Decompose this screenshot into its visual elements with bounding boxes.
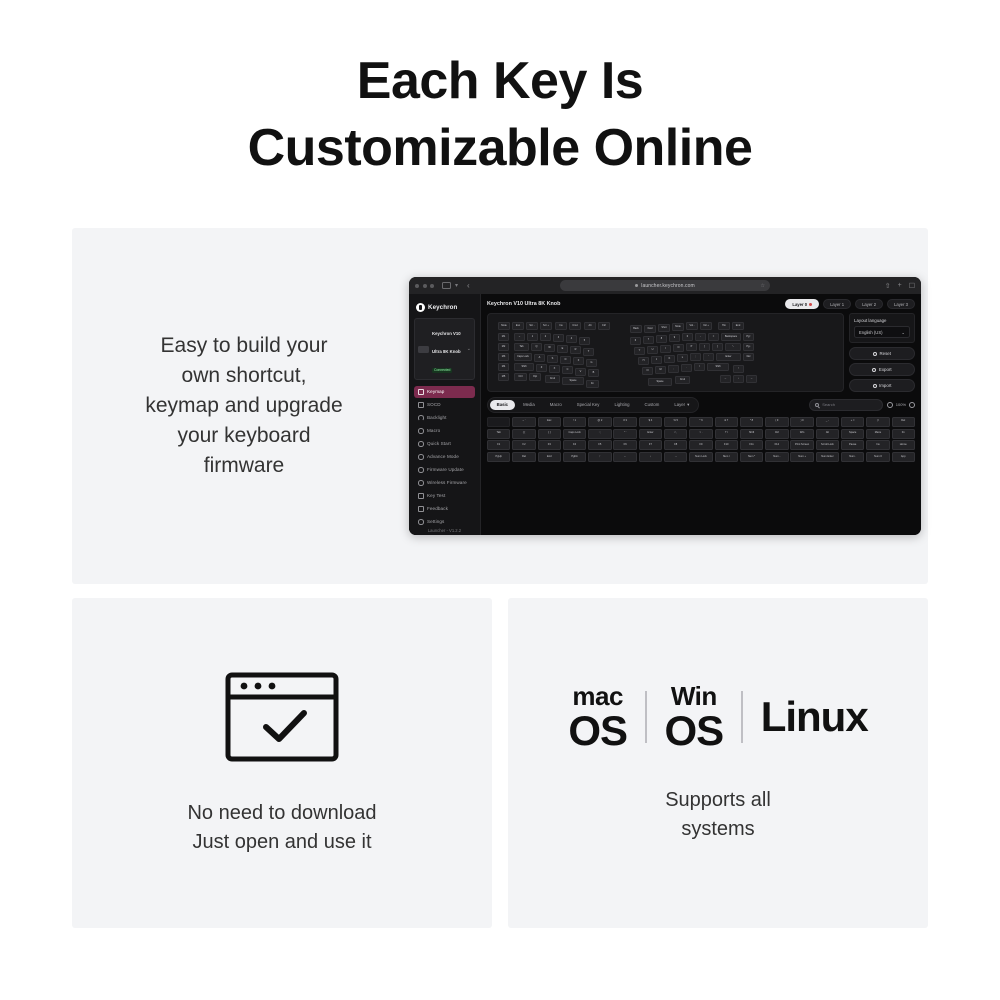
layer-tab-0[interactable]: Layer 0 xyxy=(785,299,819,309)
keyboard-key[interactable]: Y xyxy=(634,347,645,355)
palette-key[interactable]: | \ xyxy=(866,417,889,427)
tab-label: Lighting xyxy=(614,402,629,407)
keyboard-key[interactable]: Fn xyxy=(586,380,599,388)
layer-tab-label: Layer 0 xyxy=(792,302,807,307)
os-logo-row: mac OS Win OS Linux xyxy=(550,683,885,752)
keyboard-key[interactable]: [ xyxy=(699,343,710,351)
sidebar-item-label: Advance Mode xyxy=(427,454,459,459)
layer-tab-label: Layer 3 xyxy=(894,302,908,307)
keyboard-key[interactable]: Vol + xyxy=(700,322,712,330)
sidebar-item-label: Settings xyxy=(427,519,444,524)
keyboard-key[interactable]: V xyxy=(575,368,586,376)
os-logo-winos-top: Win xyxy=(671,683,717,709)
sidebar-item-quick-start[interactable]: Quick Start xyxy=(414,438,475,450)
tab-layer[interactable]: Layer ▾ xyxy=(667,400,696,410)
key-test-icon xyxy=(418,493,424,499)
keyboard-key[interactable]: Alt xyxy=(584,322,596,330)
url-bar[interactable]: launcher.keychron.com ☆ xyxy=(560,280,770,291)
keyboard-key[interactable]: D xyxy=(560,356,571,364)
palette-key[interactable]: ~ ` xyxy=(512,417,535,427)
keyboard-key[interactable]: L xyxy=(677,354,688,362)
keychron-logo-icon xyxy=(416,303,425,312)
layer-tab-label: Layer 1 xyxy=(830,302,844,307)
keyboard-key[interactable]: G xyxy=(586,359,597,367)
keyboard-key[interactable]: F xyxy=(573,357,584,365)
palette-key[interactable]: F3 xyxy=(538,440,561,450)
panel-actions: Reset Export Import xyxy=(849,347,915,392)
keyboard-key[interactable]: Opt xyxy=(529,373,541,381)
palette-key[interactable]: F1 xyxy=(487,440,510,450)
palette-key[interactable]: F5 xyxy=(588,440,611,450)
chevron-down-icon: ▾ xyxy=(687,402,689,408)
palette-key[interactable]: _ - xyxy=(816,417,839,427)
keyboard-key[interactable]: M2 xyxy=(498,343,509,351)
sidebar-item-label: Quick Start xyxy=(427,441,451,446)
keyboard-key[interactable]: B xyxy=(588,369,599,377)
right-panel: Layout language English (US) ⌄ xyxy=(849,313,915,392)
keyboard-key[interactable]: \ xyxy=(725,343,741,351)
chevron-down-icon: ⌄ xyxy=(901,330,905,335)
firmware-update-icon xyxy=(418,467,424,473)
reset-icon xyxy=(873,352,877,356)
keyboard-key[interactable]: Ctrl xyxy=(514,373,527,381)
main-header: Keychron V10 Ultra 8K Knob Layer 0 Layer… xyxy=(487,299,915,309)
keyboard-key[interactable]: K xyxy=(664,355,675,363)
palette-key[interactable]: Fn xyxy=(892,429,915,439)
palette-key[interactable]: ? / xyxy=(715,429,738,439)
app-screenshot-wrapper: ▾ ‹ launcher.keychron.com ☆ ⇧ + ☐ xyxy=(402,277,928,535)
keyboard-key[interactable]: . xyxy=(681,364,692,372)
keyboard-key[interactable]: 7 xyxy=(643,336,654,344)
wireless-firmware-icon xyxy=(418,480,424,486)
palette-key[interactable]: F7 xyxy=(639,440,662,450)
palette-key[interactable]: F10 xyxy=(715,440,738,450)
launcher-description: Easy to build your own shortcut, keymap … xyxy=(72,331,402,480)
keymap-icon xyxy=(418,389,424,395)
brand-name: Keychron xyxy=(428,304,457,311)
browser-window: ▾ ‹ launcher.keychron.com ☆ ⇧ + ☐ xyxy=(409,277,921,535)
sidebar-item-label: Backlight xyxy=(427,415,447,420)
app-main: Keychron V10 Ultra 8K Knob Layer 0 Layer… xyxy=(481,294,921,535)
palette-key[interactable]: Num Lock xyxy=(689,452,712,462)
palette-key[interactable]: > . xyxy=(689,429,712,439)
palette-key[interactable]: F2 xyxy=(512,440,535,450)
palette-key[interactable]: ↓ xyxy=(639,452,662,462)
settings-icon xyxy=(418,519,424,525)
keyboard-key[interactable]: Pg↑ xyxy=(743,333,754,341)
keyboard-key[interactable]: Shift xyxy=(514,363,534,371)
palette-key[interactable]: Esc xyxy=(538,417,561,427)
quick-start-icon xyxy=(418,441,424,447)
keyboard-key[interactable]: M xyxy=(655,366,666,374)
keyboard-key[interactable]: 8 xyxy=(656,335,667,343)
keyboard-key[interactable]: Backspace xyxy=(721,333,741,341)
layer-tabs: Layer 0 Layer 1 Layer 2 L xyxy=(785,299,915,309)
zoom-level: 100% xyxy=(896,402,906,407)
keyboard-key[interactable]: Enter xyxy=(716,353,741,361)
keyboard-key[interactable]: M1 xyxy=(498,333,509,341)
palette-key[interactable]: App xyxy=(892,452,915,462)
keyboard-key[interactable]: M5 xyxy=(498,373,509,381)
keyboard-key[interactable]: ; xyxy=(690,353,701,361)
palette-key[interactable]: F9 xyxy=(689,440,712,450)
palette-key[interactable]: # 3 xyxy=(613,417,636,427)
sidebar-item-firmware-update[interactable]: Firmware Update xyxy=(414,464,475,476)
layer-tab-1[interactable]: Layer 1 xyxy=(823,299,851,309)
palette-key[interactable]: Space xyxy=(841,429,864,439)
keyboard-key[interactable]: Cmd xyxy=(675,376,690,384)
import-button[interactable]: Import xyxy=(849,379,915,392)
no-download-caption-line-1: No need to download xyxy=(187,799,376,828)
search-input[interactable]: Search xyxy=(809,399,883,410)
os-logo-macos-top: mac xyxy=(572,683,623,709)
launcher-app: Keychron Keychron V10 Ultra 8K Knob Conn… xyxy=(409,294,921,535)
sidebar-item-macro[interactable]: Macro xyxy=(414,425,475,437)
keyboard-key[interactable]: Caps Lock xyxy=(514,353,532,361)
palette-key[interactable]: Ctrl xyxy=(765,429,788,439)
palette-key[interactable]: } ] xyxy=(538,429,561,439)
palette-key[interactable]: Scroll Lock xyxy=(816,440,839,450)
export-button[interactable]: Export xyxy=(849,363,915,376)
palette-key[interactable]: Tab xyxy=(487,429,510,439)
launcher-description-line-3: keymap and upgrade xyxy=(86,391,402,421)
keyboard-key[interactable]: 4 xyxy=(566,335,577,343)
keyboard-key[interactable]: Vol - xyxy=(686,322,698,330)
keyboard-key[interactable]: N xyxy=(642,367,653,375)
palette-key[interactable]: < , xyxy=(664,429,687,439)
palette-key[interactable]: Num - xyxy=(765,452,788,462)
search-icon xyxy=(815,403,820,408)
keyboard-key[interactable]: Del xyxy=(743,353,754,361)
palette-key[interactable]: Del xyxy=(892,417,915,427)
keyboard-key[interactable]: C xyxy=(562,366,573,374)
keyboard-key[interactable]: P xyxy=(686,343,697,351)
palette-key[interactable]: PgUp xyxy=(487,452,510,462)
tab-label: Macro xyxy=(550,402,562,407)
browser-chrome-bar: ▾ ‹ launcher.keychron.com ☆ ⇧ + ☐ xyxy=(409,277,921,294)
keyboard-key[interactable]: Q xyxy=(531,343,542,351)
export-label: Export xyxy=(879,367,892,372)
tabs-icon[interactable]: ☐ xyxy=(909,282,915,290)
palette-key[interactable] xyxy=(487,417,510,427)
palette-row: F1F2F3F4F5F6F7F8F9F10F11F12Print ScreenS… xyxy=(487,440,915,450)
keyboard-key[interactable]: ↑ xyxy=(733,365,744,373)
device-name-line-2: Ultra 8K Knob xyxy=(432,349,461,354)
key-category-tabs: Basic Media Macro Special Key Lighting C… xyxy=(487,397,699,413)
keyboard-key[interactable]: 6 xyxy=(630,337,641,345)
page-title-line-2: Customizable Online xyxy=(0,115,1000,182)
page-root: Each Key Is Customizable Online Easy to … xyxy=(0,0,1000,1000)
keyboard-key[interactable]: Space xyxy=(562,377,584,385)
palette-key[interactable]: Menu xyxy=(866,429,889,439)
palette-key[interactable]: F4 xyxy=(563,440,586,450)
palette-key[interactable]: @ 2 xyxy=(588,417,611,427)
tab-lighting[interactable]: Lighting xyxy=(607,400,636,409)
keyboard-key[interactable]: O xyxy=(673,344,684,352)
reset-label: Reset xyxy=(880,351,891,356)
palette-key[interactable]: Win xyxy=(790,429,813,439)
palette-key[interactable]: Caps Lock xyxy=(563,429,586,439)
palette-key[interactable]: : ; xyxy=(588,429,611,439)
key-category-toolbar: Basic Media Macro Special Key Lighting C… xyxy=(487,397,915,413)
keyboard-key[interactable]: 2 xyxy=(540,333,551,341)
zoom-in-icon[interactable] xyxy=(909,402,915,408)
palette-key[interactable]: & 7 xyxy=(715,417,738,427)
palette-key[interactable]: ← xyxy=(613,452,636,462)
brand: Keychron xyxy=(414,301,475,318)
sidebar-toggle-icon[interactable] xyxy=(442,282,451,289)
keyboard-visualization[interactable]: MuteEscScr -Scr +InsCmdAltCtrlM1~12345M2… xyxy=(487,313,844,392)
palette-key[interactable]: Print Screen xyxy=(790,440,813,450)
advance-mode-icon xyxy=(418,454,424,460)
layer-tab-label: Layer 2 xyxy=(862,302,876,307)
keyboard-key[interactable]: ' xyxy=(703,353,714,361)
palette-key[interactable]: Num 0 xyxy=(866,452,889,462)
palette-key[interactable]: Del xyxy=(512,452,535,462)
palette-key[interactable]: " ' xyxy=(613,429,636,439)
keyboard-key[interactable]: H xyxy=(638,357,649,365)
keyboard-key[interactable]: Hm xyxy=(718,322,730,330)
keyboard-key[interactable]: → xyxy=(746,375,757,383)
keyboard-key[interactable]: = xyxy=(708,333,719,341)
export-icon xyxy=(872,368,876,372)
sidebar-item-label: SOCD xyxy=(427,402,441,407)
keyboard-key[interactable]: Scr + xyxy=(540,322,552,330)
layout-language-label: Layout language xyxy=(854,318,910,323)
palette-key[interactable]: F11 xyxy=(740,440,763,450)
no-download-caption: No need to download Just open and use it xyxy=(187,799,376,857)
bookmark-icon[interactable]: ☆ xyxy=(761,283,765,289)
launcher-description-line-1: Easy to build your xyxy=(86,331,402,361)
feature-card-launcher: Easy to build your own shortcut, keymap … xyxy=(72,228,928,584)
palette-key[interactable]: + = xyxy=(841,417,864,427)
app-sidebar: Keychron Keychron V10 Ultra 8K Knob Conn… xyxy=(409,294,481,535)
keyboard-key[interactable]: Pg↓ xyxy=(743,343,754,351)
palette-key[interactable]: Num . xyxy=(841,452,864,462)
tab-label: Custom xyxy=(645,402,660,407)
sidebar-item-settings[interactable]: Settings xyxy=(414,516,475,528)
keyboard-key[interactable]: J xyxy=(651,356,662,364)
url-text: launcher.keychron.com xyxy=(641,283,695,289)
keyboard-key[interactable]: M4 xyxy=(498,363,509,371)
keyboard-key[interactable]: / xyxy=(694,363,705,371)
palette-key[interactable]: ! 1 xyxy=(563,417,586,427)
tab-basic[interactable]: Basic xyxy=(490,400,515,409)
share-icon[interactable]: ⇧ xyxy=(885,282,891,290)
palette-key[interactable]: PgDn xyxy=(563,452,586,462)
keyboard-key[interactable]: 1 xyxy=(527,333,538,341)
palette-key[interactable]: F12 xyxy=(765,440,788,450)
os-logo-macos: mac OS xyxy=(550,683,645,752)
keyboard-key[interactable]: , xyxy=(668,365,679,373)
tab-special-key[interactable]: Special Key xyxy=(570,400,607,409)
palette-key[interactable]: Home xyxy=(892,440,915,450)
zoom-out-icon[interactable] xyxy=(887,402,893,408)
palette-row: ~ `Esc! 1@ 2# 3$ 4% 5^ 6& 7* 8( 9) 0_ -+… xyxy=(487,417,915,427)
keyboard-key[interactable]: Cmd xyxy=(545,375,560,383)
palette-key[interactable]: Pause xyxy=(841,440,864,450)
feature-card-no-download: No need to download Just open and use it xyxy=(72,598,492,928)
keyboard-key[interactable]: A xyxy=(534,354,545,362)
layout-language-value: English (US) xyxy=(859,330,883,335)
lock-icon xyxy=(635,284,638,287)
layer-tab-2[interactable]: Layer 2 xyxy=(855,299,883,309)
sidebar-item-advance-mode[interactable]: Advance Mode xyxy=(414,451,475,463)
page-title-line-1: Each Key Is xyxy=(0,48,1000,115)
keyboard-key[interactable]: I xyxy=(660,345,671,353)
palette-key[interactable]: Shift xyxy=(740,429,763,439)
palette-key[interactable]: Num Enter xyxy=(816,452,839,462)
editor-stage: MuteEscScr -Scr +InsCmdAltCtrlM1~12345M2… xyxy=(487,313,915,392)
feedback-icon xyxy=(418,506,424,512)
sidebar-item-backlight[interactable]: Backlight xyxy=(414,412,475,424)
palette-row: Tab{ [} ]Caps Lock: ;" 'Enter< ,> .? /Sh… xyxy=(487,429,915,439)
palette-key[interactable]: % 5 xyxy=(664,417,687,427)
new-tab-icon[interactable]: + xyxy=(898,282,902,289)
sidebar-item-label: Keymap xyxy=(427,389,444,394)
no-download-caption-line-2: Just open and use it xyxy=(187,828,376,857)
palette-key[interactable]: Enter xyxy=(639,429,662,439)
palette-key[interactable]: Alt xyxy=(816,429,839,439)
sidebar-item-wireless-firmware[interactable]: Wireless Firmware xyxy=(414,477,475,489)
palette-key[interactable]: Ins xyxy=(866,440,889,450)
keyboard-key[interactable]: Scr - xyxy=(526,322,538,330)
keyboard-key[interactable]: Cmd xyxy=(569,322,581,330)
keyboard-key[interactable]: ← xyxy=(720,375,731,383)
launcher-description-line-5: firmware xyxy=(86,451,402,481)
device-info: Keychron V10 Ultra 8K Knob Connected xyxy=(432,322,464,376)
palette-key[interactable]: End xyxy=(538,452,561,462)
tab-macro[interactable]: Macro xyxy=(543,400,569,409)
device-selector[interactable]: Keychron V10 Ultra 8K Knob Connected ⌄ xyxy=(414,318,475,380)
keyboard-key[interactable]: ~ xyxy=(514,333,525,341)
tab-label: Media xyxy=(523,402,535,407)
device-name-line-1: Keychron V10 xyxy=(432,331,461,336)
keyboard-key[interactable]: Esc xyxy=(512,322,524,330)
keyboard-key[interactable]: Back xyxy=(630,325,642,333)
os-logo-macos-bottom: OS xyxy=(568,710,627,752)
tab-label: Special Key xyxy=(577,402,600,407)
browser-chrome-actions[interactable]: ⇧ + ☐ xyxy=(885,282,915,290)
tab-custom[interactable]: Custom xyxy=(638,400,667,409)
reset-button[interactable]: Reset xyxy=(849,347,915,360)
keyboard-key[interactable]: Space xyxy=(648,378,672,386)
sidebar-item-socd[interactable]: SOCD xyxy=(414,399,475,411)
chevron-down-icon[interactable]: ▾ xyxy=(455,283,458,289)
keyboard-key[interactable]: ] xyxy=(712,343,723,351)
feature-card-os-support: mac OS Win OS Linux Supports all systems xyxy=(508,598,928,928)
layer-active-dot-icon xyxy=(809,303,812,306)
os-support-caption-line-1: Supports all xyxy=(665,786,771,815)
import-label: Import xyxy=(879,383,891,388)
layout-language-select[interactable]: English (US) ⌄ xyxy=(854,326,910,338)
keyboard-key[interactable]: T xyxy=(583,348,594,356)
device-thumbnail-icon xyxy=(418,346,429,353)
keyboard-key[interactable]: Shift xyxy=(707,363,729,371)
palette-key[interactable]: F6 xyxy=(613,440,636,450)
sidebar-item-keymap[interactable]: Keymap xyxy=(414,386,475,398)
sidebar-item-label: Feedback xyxy=(427,506,448,511)
keyboard-key[interactable]: Mute xyxy=(498,322,510,330)
backlight-icon xyxy=(418,415,424,421)
os-logo-winos: Win OS xyxy=(647,683,742,752)
import-icon xyxy=(873,384,877,388)
keyboard-title: Keychron V10 Ultra 8K Knob xyxy=(487,301,560,307)
os-support-caption: Supports all systems xyxy=(665,786,771,844)
layout-language-box: Layout language English (US) ⌄ xyxy=(849,313,915,343)
keyboard-key[interactable]: 3 xyxy=(553,334,564,342)
keyboard-key[interactable]: Ins xyxy=(555,322,567,330)
palette-key[interactable]: { [ xyxy=(512,429,535,439)
keyboard-key[interactable]: R xyxy=(570,346,581,354)
sidebar-item-key-test[interactable]: Key Test xyxy=(414,490,475,502)
back-button-icon[interactable]: ‹ xyxy=(467,282,470,290)
palette-key[interactable]: Num / xyxy=(715,452,738,462)
sidebar-item-label: Firmware Update xyxy=(427,467,464,472)
keyboard-key[interactable]: Mute xyxy=(672,323,684,331)
macro-icon xyxy=(418,428,424,434)
palette-key[interactable]: Num + xyxy=(790,452,813,462)
palette-key[interactable]: Num * xyxy=(740,452,763,462)
keyboard-key[interactable]: Shot xyxy=(658,324,670,332)
palette-key[interactable]: ↑ xyxy=(588,452,611,462)
keyboard-key[interactable]: E xyxy=(557,345,568,353)
tab-media[interactable]: Media xyxy=(516,400,542,409)
layer-tab-3[interactable]: Layer 3 xyxy=(887,299,915,309)
keyboard-key[interactable]: X xyxy=(549,365,560,373)
keyboard-key[interactable]: ↓ xyxy=(733,375,744,383)
sidebar-item-feedback[interactable]: Feedback xyxy=(414,503,475,515)
search-placeholder: Search xyxy=(822,402,835,407)
palette-key[interactable]: ^ 6 xyxy=(689,417,712,427)
socd-icon xyxy=(418,402,424,408)
traffic-lights[interactable] xyxy=(415,284,434,288)
keyboard-key[interactable]: U xyxy=(647,346,658,354)
palette-key[interactable]: * 8 xyxy=(740,417,763,427)
palette-row: PgUpDelEndPgDn↑←↓→Num LockNum /Num *Num … xyxy=(487,452,915,462)
launcher-description-line-2: own shortcut, xyxy=(86,361,402,391)
browser-window-check-icon xyxy=(222,669,342,765)
chevron-down-icon[interactable]: ⌄ xyxy=(467,346,471,352)
zoom-controls: 100% xyxy=(887,402,915,408)
keyboard-key[interactable]: Fwd xyxy=(644,325,656,333)
launcher-description-line-4: your keyboard xyxy=(86,421,402,451)
keyboard-key[interactable]: End xyxy=(732,322,744,330)
os-logo-linux: Linux xyxy=(743,693,886,741)
keyboard-key[interactable]: 0 xyxy=(682,333,693,341)
tab-label: Layer xyxy=(674,402,685,407)
sidebar-item-label: Wireless Firmware xyxy=(427,480,467,485)
keyboard-key[interactable]: 9 xyxy=(669,334,680,342)
palette-key[interactable]: → xyxy=(664,452,687,462)
keyboard-key[interactable]: 5 xyxy=(579,337,590,345)
palette-key[interactable]: ( 9 xyxy=(765,417,788,427)
key-palette: ~ `Esc! 1@ 2# 3$ 4% 5^ 6& 7* 8( 9) 0_ -+… xyxy=(487,417,915,462)
keyboard-key[interactable]: Tab xyxy=(514,343,529,351)
keyboard-key[interactable]: W xyxy=(544,344,555,352)
keyboard-key[interactable]: M3 xyxy=(498,353,509,361)
keyboard-key[interactable]: - xyxy=(695,333,706,341)
app-version: Launcher - V1.2.2 xyxy=(414,528,475,535)
palette-key[interactable]: ) 0 xyxy=(790,417,813,427)
palette-key[interactable]: F8 xyxy=(664,440,687,450)
keyboard-key[interactable]: Ctrl xyxy=(598,322,610,330)
keyboard-key[interactable]: Z xyxy=(536,364,547,372)
keyboard-key[interactable]: S xyxy=(547,355,558,363)
palette-key[interactable]: $ 4 xyxy=(639,417,662,427)
toolbar-right: Search 100% xyxy=(809,399,915,410)
os-support-caption-line-2: systems xyxy=(665,815,771,844)
